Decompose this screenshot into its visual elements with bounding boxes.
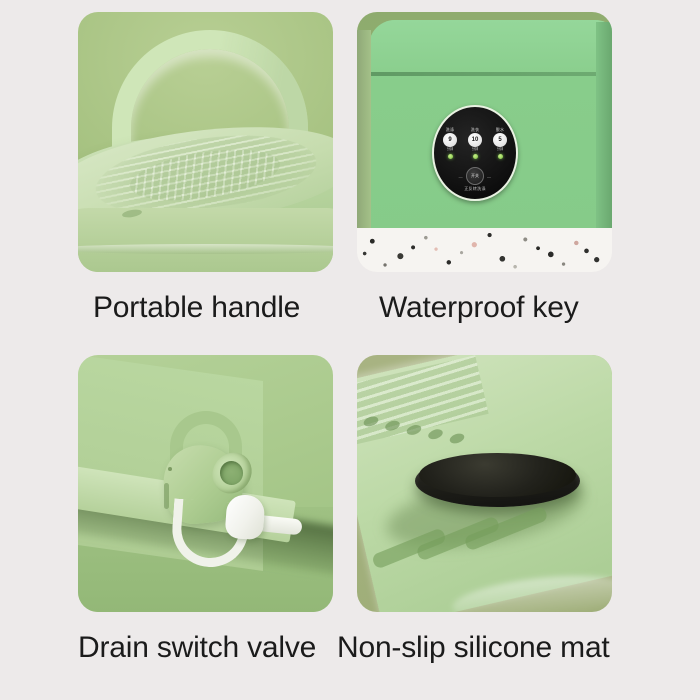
keypad-button-group-1[interactable]: 洗涤 9 分钟 — [440, 127, 460, 159]
waterproof-key-photo: 洗涤 9 分钟 洗衣 10 分钟 脱水 5 分钟 — [357, 12, 612, 272]
feature-panel-waterproof-key[interactable]: 洗涤 9 分钟 洗衣 10 分钟 脱水 5 分钟 — [357, 12, 612, 272]
caption-drain-switch-valve: Drain switch valve — [78, 631, 316, 665]
keypad-button-3-top-label: 脱水 — [490, 127, 510, 132]
keypad-button-2-sub-label: 分钟 — [465, 147, 485, 152]
keypad-button-1-value[interactable]: 9 — [443, 133, 457, 147]
washboard-dimple — [405, 423, 422, 436]
terrazzo-floor — [357, 228, 612, 272]
portable-handle-photo — [78, 12, 333, 272]
keypad-right-dash: — — [487, 174, 491, 179]
keypad-button-3-value[interactable]: 5 — [493, 133, 507, 147]
washboard-dimple — [427, 428, 444, 441]
washboard-dimple — [448, 432, 465, 445]
appliance-lid-seam — [369, 72, 612, 76]
feature-panel-drain-switch-valve[interactable] — [78, 355, 333, 612]
keypad-power-button[interactable]: 开关 — [466, 167, 484, 185]
valve-vent-slot — [164, 483, 169, 509]
keypad-button-group-3[interactable]: 脱水 5 分钟 — [490, 127, 510, 159]
washboard-dimple — [362, 415, 379, 428]
stopper-cap — [225, 494, 266, 541]
appliance-lid — [369, 20, 612, 76]
keypad-button-1-sub-label: 分钟 — [440, 147, 460, 152]
keypad-button-group-2[interactable]: 洗衣 10 分钟 — [465, 127, 485, 159]
keypad-button-2-value[interactable]: 10 — [468, 133, 482, 147]
washboard-dimple — [384, 419, 401, 432]
caption-waterproof-key: Waterproof key — [379, 291, 579, 325]
keypad-button-row: 洗涤 9 分钟 洗衣 10 分钟 脱水 5 分钟 — [440, 127, 510, 159]
container-body-seam — [78, 244, 333, 254]
silicone-mat-photo — [357, 355, 612, 612]
keypad-button-2-top-label: 洗衣 — [465, 127, 485, 132]
appliance-left-edge — [357, 30, 371, 234]
keypad-led-2 — [473, 154, 478, 159]
container-body — [78, 208, 333, 272]
silicone-mat-top — [419, 453, 576, 497]
control-keypad[interactable]: 洗涤 9 分钟 洗衣 10 分钟 脱水 5 分钟 — [432, 105, 518, 201]
keypad-button-3-sub-label: 分钟 — [490, 147, 510, 152]
keypad-led-1 — [448, 154, 453, 159]
caption-portable-handle: Portable handle — [93, 291, 300, 325]
feature-panel-portable-handle[interactable] — [78, 12, 333, 272]
drain-valve-photo — [78, 355, 333, 612]
appliance-right-edge — [596, 22, 612, 234]
keypad-footer-label: 正反转洗涤 — [434, 186, 516, 192]
keypad-left-dash: — — [459, 174, 463, 179]
keypad-led-3 — [498, 154, 503, 159]
keypad-bottom-row: — 开关 — — [434, 167, 516, 185]
feature-panel-non-slip-silicone-mat[interactable] — [357, 355, 612, 612]
feature-grid-page: Portable handle 洗涤 9 分钟 洗衣 — [0, 0, 700, 700]
keypad-button-1-top-label: 洗涤 — [440, 127, 460, 132]
caption-non-slip-silicone-mat: Non-slip silicone mat — [337, 631, 610, 665]
valve-screw-dot — [168, 467, 172, 471]
